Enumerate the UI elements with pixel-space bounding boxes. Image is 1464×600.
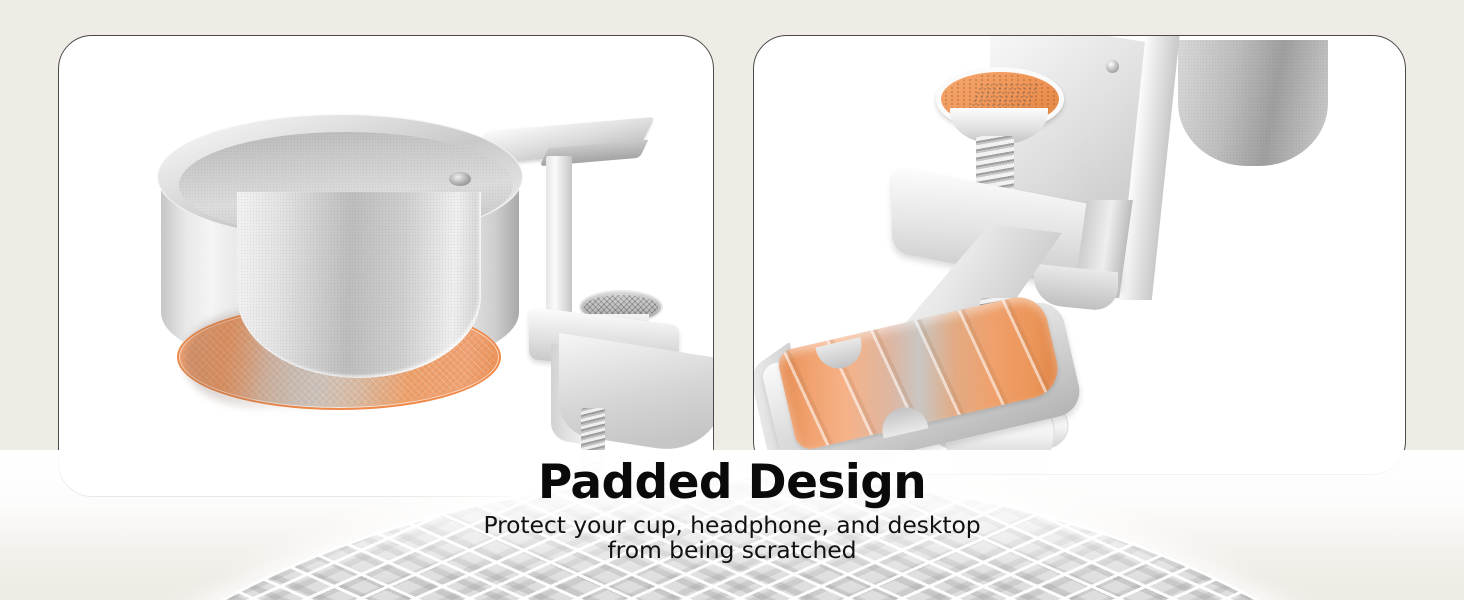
cup-holder-front-cutaway-icon — [237, 192, 481, 378]
desk-lip-bracket-stem-icon — [546, 156, 572, 316]
cup-holder-assembly — [151, 108, 531, 408]
page-title: Padded Design — [0, 458, 1464, 507]
caption-block: Padded Design Protect your cup, headphon… — [0, 458, 1464, 563]
caption-subtitle-line-2: from being scratched — [0, 538, 1464, 563]
orange-ribbed-headphone-pad-icon — [776, 291, 1064, 452]
panel-cup-holder-closeup — [58, 35, 714, 497]
cup-holder-scene — [59, 36, 713, 496]
caption-subtitle: Protect your cup, headphone, and desktop… — [0, 513, 1464, 563]
headphone-hanger-scene — [754, 36, 1405, 474]
caption-subtitle-line-1: Protect your cup, headphone, and desktop — [0, 513, 1464, 538]
back-plate-rivet-icon — [1106, 60, 1119, 73]
panel-headphone-hanger-closeup — [753, 35, 1406, 475]
partial-cup-grain-texture — [1178, 40, 1328, 166]
cutaway-grain-texture — [237, 192, 481, 378]
cup-holder-rivet-icon — [449, 172, 471, 186]
product-feature-image: Padded Design Protect your cup, headphon… — [0, 0, 1464, 600]
partial-cup-holder-icon — [1178, 40, 1328, 166]
